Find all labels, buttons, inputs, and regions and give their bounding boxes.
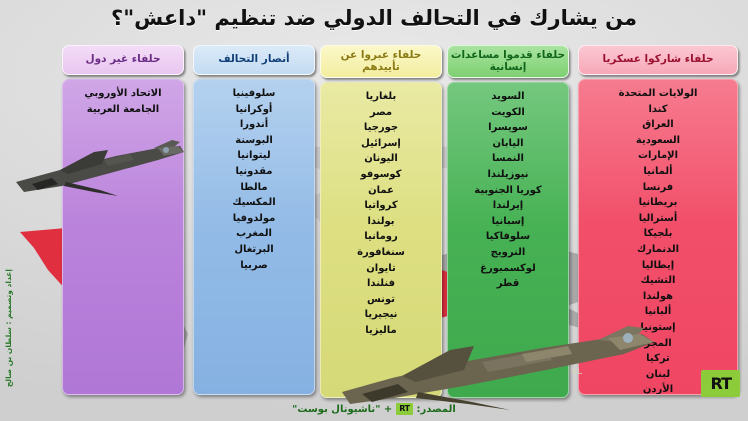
list-military-participants: الولايات المتحدة كندا العراق السعودية ال…: [583, 86, 733, 395]
list-item: إيطاليا: [583, 258, 733, 274]
list-item: المكسيك: [198, 195, 310, 211]
designer-credit: إعداد وتصميم : سلطان بن صالح: [4, 269, 13, 387]
column-header-non-state-allies[interactable]: حلفاء غير دول: [62, 45, 184, 75]
list-item: تونس: [325, 292, 437, 308]
list-item: سويسرا: [452, 120, 564, 136]
rt-source-chip: RT: [396, 403, 412, 415]
list-item: اليابان: [452, 136, 564, 152]
list-item: بلجيكا: [583, 226, 733, 242]
list-item: الجامعة العربية: [67, 102, 179, 118]
list-item: السعودية: [583, 133, 733, 149]
list-item: تايوان: [325, 261, 437, 277]
list-item: بريطانيا: [583, 195, 733, 211]
list-item: إستونيا: [583, 320, 733, 336]
list-item: صربيا: [198, 258, 310, 274]
list-item: مصر: [325, 105, 437, 121]
list-item: أندورا: [198, 117, 310, 133]
list-item: سلوفاكيا: [452, 229, 564, 245]
column-humanitarian-aid-allies: حلفاء قدموا مساعدات إنسانية السويد الكوي…: [447, 45, 569, 398]
list-item: قطر: [452, 276, 564, 292]
list-coalition-supporters: سلوفينيا أوكرانيا أندورا البوسنة ليتواني…: [198, 86, 310, 273]
list-item: مالطا: [198, 180, 310, 196]
list-item: كوسوفو: [325, 167, 437, 183]
list-item: ليتوانيا: [198, 148, 310, 164]
list-item: سنغافورة: [325, 245, 437, 261]
rt-logo[interactable]: RT: [701, 370, 740, 397]
source-label: المصدر:: [417, 404, 456, 415]
list-item: رومانيا: [325, 229, 437, 245]
list-item: سلوفينيا: [198, 86, 310, 102]
column-list-military-participants: الولايات المتحدة كندا العراق السعودية ال…: [578, 79, 738, 395]
list-non-state-allies: الاتحاد الأوروبي الجامعة العربية: [67, 86, 179, 117]
list-item: ألمانيا: [583, 164, 733, 180]
list-item: فنلندا: [325, 276, 437, 292]
list-item: بولندا: [325, 214, 437, 230]
list-item: الاتحاد الأوروبي: [67, 86, 179, 102]
list-item: نيجيريا: [325, 307, 437, 323]
list-item: الدنمارك: [583, 242, 733, 258]
list-item: مقدونيا: [198, 164, 310, 180]
column-coalition-supporters: أنصار التحالف سلوفينيا أوكرانيا أندورا ا…: [193, 45, 315, 395]
source-footer: المصدر: RT + "ناشيونال بوست": [0, 403, 748, 415]
list-item: البرتغال: [198, 242, 310, 258]
page-title: من يشارك في التحالف الدولي ضد تنظيم "داع…: [0, 6, 748, 30]
list-item: العراق: [583, 117, 733, 133]
infographic-canvas: RT: [0, 0, 748, 421]
column-military-participants: حلفاء شاركوا عسكريا الولايات المتحدة كند…: [578, 45, 738, 395]
list-item: أستراليا: [583, 211, 733, 227]
column-header-humanitarian-aid-allies[interactable]: حلفاء قدموا مساعدات إنسانية: [447, 45, 569, 78]
list-item: الإمارات: [583, 148, 733, 164]
list-item: بلغاريا: [325, 89, 437, 105]
list-endorsing-allies: بلغاريا مصر جورجيا إسرائيل اليونان كوسوف…: [325, 89, 437, 339]
list-item: النرويج: [452, 245, 564, 261]
column-non-state-allies: حلفاء غير دول الاتحاد الأوروبي الجامعة ا…: [62, 45, 184, 395]
list-item: إسرائيل: [325, 136, 437, 152]
list-item: تركيا: [583, 351, 733, 367]
column-header-military-participants[interactable]: حلفاء شاركوا عسكريا: [578, 45, 738, 75]
list-item: ألبانيا: [583, 304, 733, 320]
list-item: النمسا: [452, 151, 564, 167]
list-humanitarian-aid-allies: السويد الكويت سويسرا اليابان النمسا نيوز…: [452, 89, 564, 292]
list-item: مولدوفيا: [198, 211, 310, 227]
source-secondary: + "ناشيونال بوست": [292, 404, 392, 415]
list-item: عمان: [325, 183, 437, 199]
list-item: الولايات المتحدة: [583, 86, 733, 102]
list-item: ماليزيا: [325, 323, 437, 339]
column-header-endorsing-allies[interactable]: حلفاء عبروا عن تأييدهم: [320, 45, 442, 78]
list-item: اليونان: [325, 151, 437, 167]
list-item: المغرب: [198, 226, 310, 242]
list-item: نيوزيلندا: [452, 167, 564, 183]
list-item: التشيك: [583, 273, 733, 289]
column-list-coalition-supporters: سلوفينيا أوكرانيا أندورا البوسنة ليتواني…: [193, 79, 315, 395]
column-list-endorsing-allies: بلغاريا مصر جورجيا إسرائيل اليونان كوسوف…: [320, 82, 442, 398]
column-list-humanitarian-aid-allies: السويد الكويت سويسرا اليابان النمسا نيوز…: [447, 82, 569, 398]
list-item: لوكسمبورغ: [452, 261, 564, 277]
list-item: كندا: [583, 102, 733, 118]
column-endorsing-allies: حلفاء عبروا عن تأييدهم بلغاريا مصر جورجي…: [320, 45, 442, 398]
list-item: المجر: [583, 336, 733, 352]
list-item: السويد: [452, 89, 564, 105]
list-item: هولندا: [583, 289, 733, 305]
column-list-non-state-allies: الاتحاد الأوروبي الجامعة العربية: [62, 79, 184, 395]
list-item: كوريا الجنوبية: [452, 183, 564, 199]
list-item: جورجيا: [325, 120, 437, 136]
list-item: إسبانيا: [452, 214, 564, 230]
list-item: إيرلندا: [452, 198, 564, 214]
list-item: الكويت: [452, 105, 564, 121]
list-item: أوكرانيا: [198, 102, 310, 118]
list-item: البوسنة: [198, 133, 310, 149]
list-item: فرنسا: [583, 180, 733, 196]
column-header-coalition-supporters[interactable]: أنصار التحالف: [193, 45, 315, 75]
list-item: كرواتيا: [325, 198, 437, 214]
